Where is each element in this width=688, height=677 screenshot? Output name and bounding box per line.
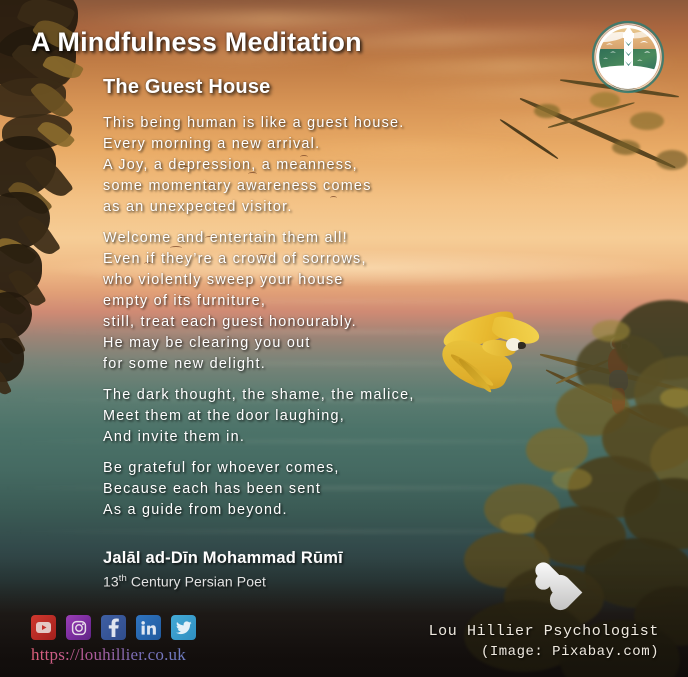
author-century-number: 13: [103, 574, 119, 590]
poem-line: Welcome and entertain them all!: [103, 228, 523, 249]
image-credit: (Image: Pixabay.com): [481, 644, 659, 660]
poem-title: The Guest House: [103, 76, 270, 99]
poem-author-name: Jalāl ad-Dīn Mohammad Rūmī: [103, 549, 343, 568]
poem-stanza: The dark thought, the shame, the malice,…: [103, 385, 523, 448]
poem-line: A Joy, a depression, a meanness,: [103, 155, 523, 176]
poem-line: As a guide from beyond.: [103, 500, 523, 521]
poem-stanza: This being human is like a guest house. …: [103, 113, 523, 218]
poster-canvas: A Mindfulness Meditation The Guest House…: [0, 0, 688, 677]
poem-line: And invite them in.: [103, 427, 523, 448]
author-descriptor-rest: Century Persian Poet: [127, 574, 266, 590]
lighthouse-seagulls-logo: [590, 19, 666, 95]
brand-credit: Lou Hillier Psychologist: [429, 623, 659, 640]
twitter-icon[interactable]: [171, 615, 196, 640]
poem-line: for some new delight.: [103, 354, 523, 375]
poem-line: some momentary awareness comes: [103, 176, 523, 197]
facebook-icon[interactable]: [101, 615, 126, 640]
poem-line: still, treat each guest honourably.: [103, 312, 523, 333]
poem-stanza: Welcome and entertain them all! Even if …: [103, 228, 523, 375]
page-title: A Mindfulness Meditation: [31, 27, 362, 58]
linkedin-icon[interactable]: [136, 615, 161, 640]
author-ordinal-suffix: th: [119, 573, 127, 584]
poem-author-descriptor: 13th Century Persian Poet: [103, 573, 266, 590]
poem-line: He may be clearing you out: [103, 333, 523, 354]
social-links-row: [31, 615, 196, 640]
poem-line: Meet them at the door laughing,: [103, 406, 523, 427]
poem-line: Even if they’re a crowd of sorrows,: [103, 249, 523, 270]
youtube-icon[interactable]: [31, 615, 56, 640]
poem-line: The dark thought, the shame, the malice,: [103, 385, 523, 406]
poem-line: empty of its furniture,: [103, 291, 523, 312]
poem-stanza: Be grateful for whoever comes, Because e…: [103, 458, 523, 521]
poem-line: as an unexpected visitor.: [103, 197, 523, 218]
poem-line: This being human is like a guest house.: [103, 113, 523, 134]
poem-line: Every morning a new arrival.: [103, 134, 523, 155]
poem-line: who violently sweep your house: [103, 270, 523, 291]
website-url-link[interactable]: https://louhillier.co.uk: [31, 645, 186, 665]
perched-red-macaw: [602, 336, 636, 414]
poem-line: Because each has been sent: [103, 479, 523, 500]
instagram-icon[interactable]: [66, 615, 91, 640]
poem-line: Be grateful for whoever comes,: [103, 458, 523, 479]
poem-body: This being human is like a guest house. …: [103, 113, 523, 531]
